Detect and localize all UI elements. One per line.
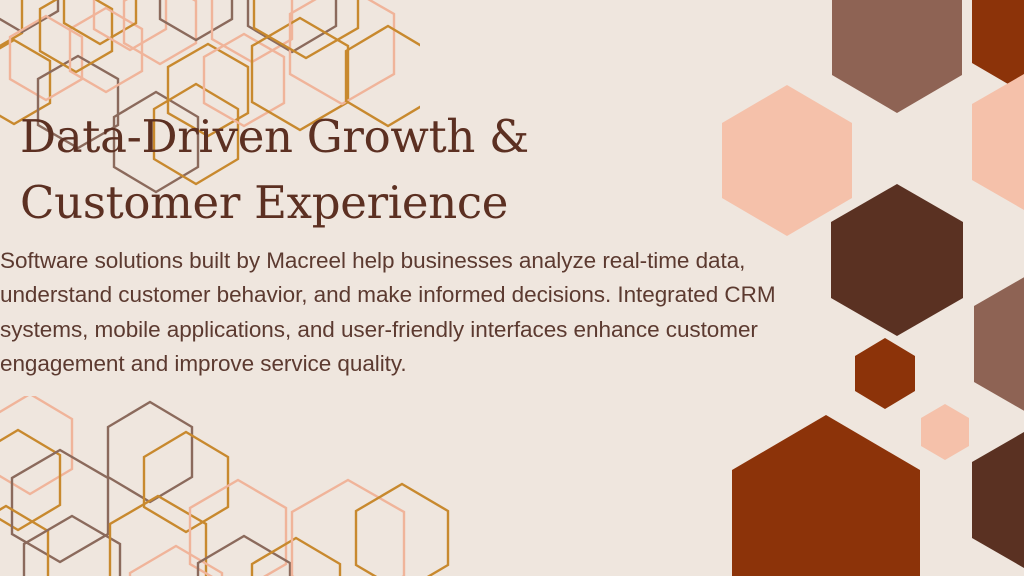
hexagon-rust-small — [855, 338, 915, 409]
hexagon-dark-brown-middle — [831, 184, 963, 336]
hexagon-salmon-right-upper — [972, 66, 1024, 218]
hexagon-dark-brown-bottom-right — [972, 424, 1024, 576]
page-title: Data-Driven Growth & Customer Experience — [0, 104, 800, 236]
hexagon-outline-pattern-bottom-left — [0, 396, 520, 576]
text-content-block: Data-Driven Growth & Customer Experience… — [0, 104, 800, 381]
body-paragraph: Software solutions built by Macreel help… — [0, 236, 795, 381]
hexagon-salmon-small — [921, 404, 969, 460]
hexagon-medium-brown-top — [832, 0, 962, 113]
hexagon-rust-large-bottom — [732, 415, 920, 576]
hexagon-medium-brown-right — [974, 268, 1024, 420]
slide-canvas: Data-Driven Growth & Customer Experience… — [0, 0, 1024, 576]
